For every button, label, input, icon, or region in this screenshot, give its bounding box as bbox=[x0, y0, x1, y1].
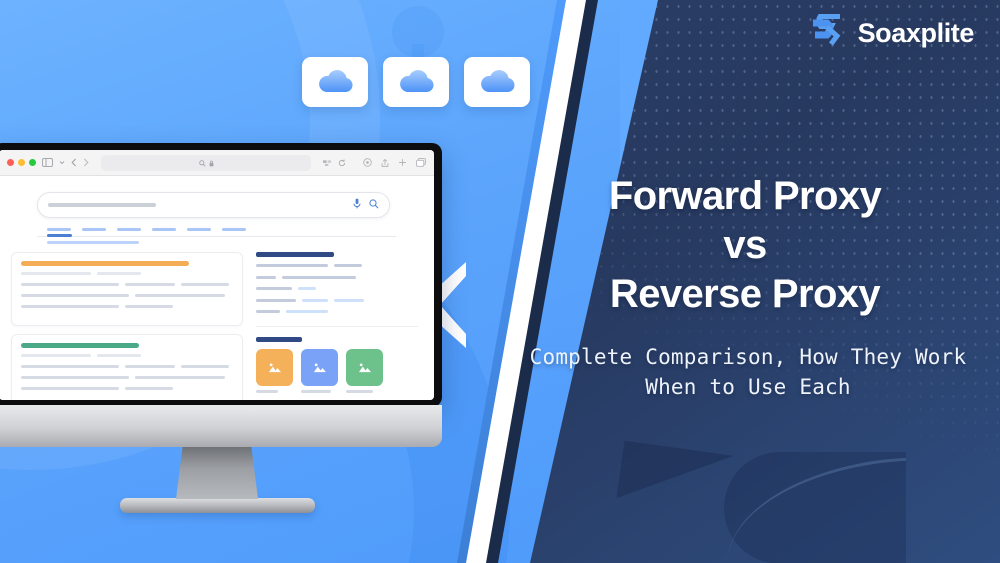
extensions-icon[interactable] bbox=[323, 159, 332, 167]
search-results-column bbox=[11, 252, 243, 400]
panel-divider bbox=[256, 326, 418, 327]
result-count-text bbox=[47, 241, 139, 244]
search-icon bbox=[199, 154, 206, 172]
nav-tab[interactable] bbox=[82, 228, 106, 231]
headline-line-2: vs bbox=[545, 221, 945, 270]
nav-tab[interactable] bbox=[152, 228, 176, 231]
cloud-icon bbox=[477, 69, 517, 95]
thumbnail-caption bbox=[346, 390, 373, 393]
lock-icon bbox=[209, 154, 214, 172]
nav-underline bbox=[37, 236, 396, 237]
reload-icon[interactable] bbox=[338, 159, 346, 167]
thumbnail-caption bbox=[256, 390, 278, 393]
image-icon bbox=[256, 349, 293, 386]
search-result-card[interactable] bbox=[11, 334, 243, 400]
nav-tab[interactable] bbox=[222, 228, 246, 231]
share-icon[interactable] bbox=[381, 158, 389, 168]
cloud-card bbox=[383, 57, 449, 107]
result-title bbox=[21, 343, 139, 348]
search-result-card[interactable] bbox=[11, 252, 243, 326]
search-placeholder bbox=[48, 203, 156, 207]
knowledge-panel bbox=[256, 252, 422, 400]
search-icon[interactable] bbox=[369, 196, 379, 214]
new-tab-icon[interactable] bbox=[398, 158, 407, 168]
subtitle-line-1: Complete Comparison, How They Work bbox=[530, 345, 967, 369]
forward-arrow-icon[interactable] bbox=[83, 158, 89, 167]
address-bar[interactable] bbox=[101, 155, 311, 171]
cloud-card bbox=[464, 57, 530, 107]
minimize-icon[interactable] bbox=[18, 159, 25, 166]
headline-line-1: Forward Proxy bbox=[609, 174, 881, 218]
nav-tab[interactable] bbox=[117, 228, 141, 231]
headline-line-3: Reverse Proxy bbox=[610, 272, 880, 316]
image-icon bbox=[346, 349, 383, 386]
window-controls[interactable] bbox=[7, 159, 36, 166]
panel-heading bbox=[256, 252, 334, 257]
thumbnail-item[interactable] bbox=[301, 349, 338, 393]
close-icon[interactable] bbox=[7, 159, 14, 166]
sidebar-icon[interactable] bbox=[42, 158, 53, 167]
cloud-card bbox=[302, 57, 368, 107]
cloud-card-row bbox=[302, 57, 530, 107]
cloud-icon bbox=[396, 69, 436, 95]
webpage-mockup bbox=[0, 176, 434, 400]
brand-name: Soaxplite bbox=[858, 18, 974, 49]
cloud-icon bbox=[315, 69, 355, 95]
chevron-down-icon[interactable] bbox=[59, 160, 65, 165]
monitor-stand-base bbox=[120, 498, 315, 513]
tabs-icon[interactable] bbox=[416, 158, 426, 168]
subtitle-line-2: When to Use Each bbox=[645, 375, 851, 399]
result-title bbox=[21, 261, 189, 266]
desktop-monitor-mockup bbox=[0, 143, 442, 513]
panel-subheading bbox=[256, 337, 302, 342]
nav-tabs[interactable] bbox=[47, 228, 422, 231]
brand-logo[interactable]: Soaxplite bbox=[807, 14, 974, 53]
thumbnail-row bbox=[256, 349, 418, 393]
monitor-chin bbox=[0, 405, 442, 447]
thumbnail-item[interactable] bbox=[256, 349, 293, 393]
monitor-bezel bbox=[0, 143, 442, 407]
monitor-stand-neck bbox=[176, 447, 258, 499]
banner-canvas: Soaxplite Forward Proxy vs Reverse Proxy… bbox=[0, 0, 1000, 563]
search-input[interactable] bbox=[37, 192, 390, 218]
privacy-icon[interactable] bbox=[363, 158, 372, 168]
page-subtitle: Complete Comparison, How They Work When … bbox=[518, 343, 978, 403]
back-arrow-icon[interactable] bbox=[71, 158, 77, 167]
nav-tab[interactable] bbox=[187, 228, 211, 231]
soax-logo-mark-icon bbox=[807, 14, 849, 53]
toolbar-right-icons bbox=[363, 158, 426, 168]
image-icon bbox=[301, 349, 338, 386]
nav-tab[interactable] bbox=[47, 228, 71, 231]
thumbnail-caption bbox=[301, 390, 331, 393]
zoom-icon[interactable] bbox=[29, 159, 36, 166]
browser-toolbar bbox=[0, 150, 434, 176]
page-title: Forward Proxy vs Reverse Proxy bbox=[545, 172, 945, 318]
monitor-screen bbox=[0, 150, 434, 400]
paper-plane-icon bbox=[606, 440, 906, 563]
thumbnail-item[interactable] bbox=[346, 349, 383, 393]
microphone-icon[interactable] bbox=[353, 196, 361, 214]
